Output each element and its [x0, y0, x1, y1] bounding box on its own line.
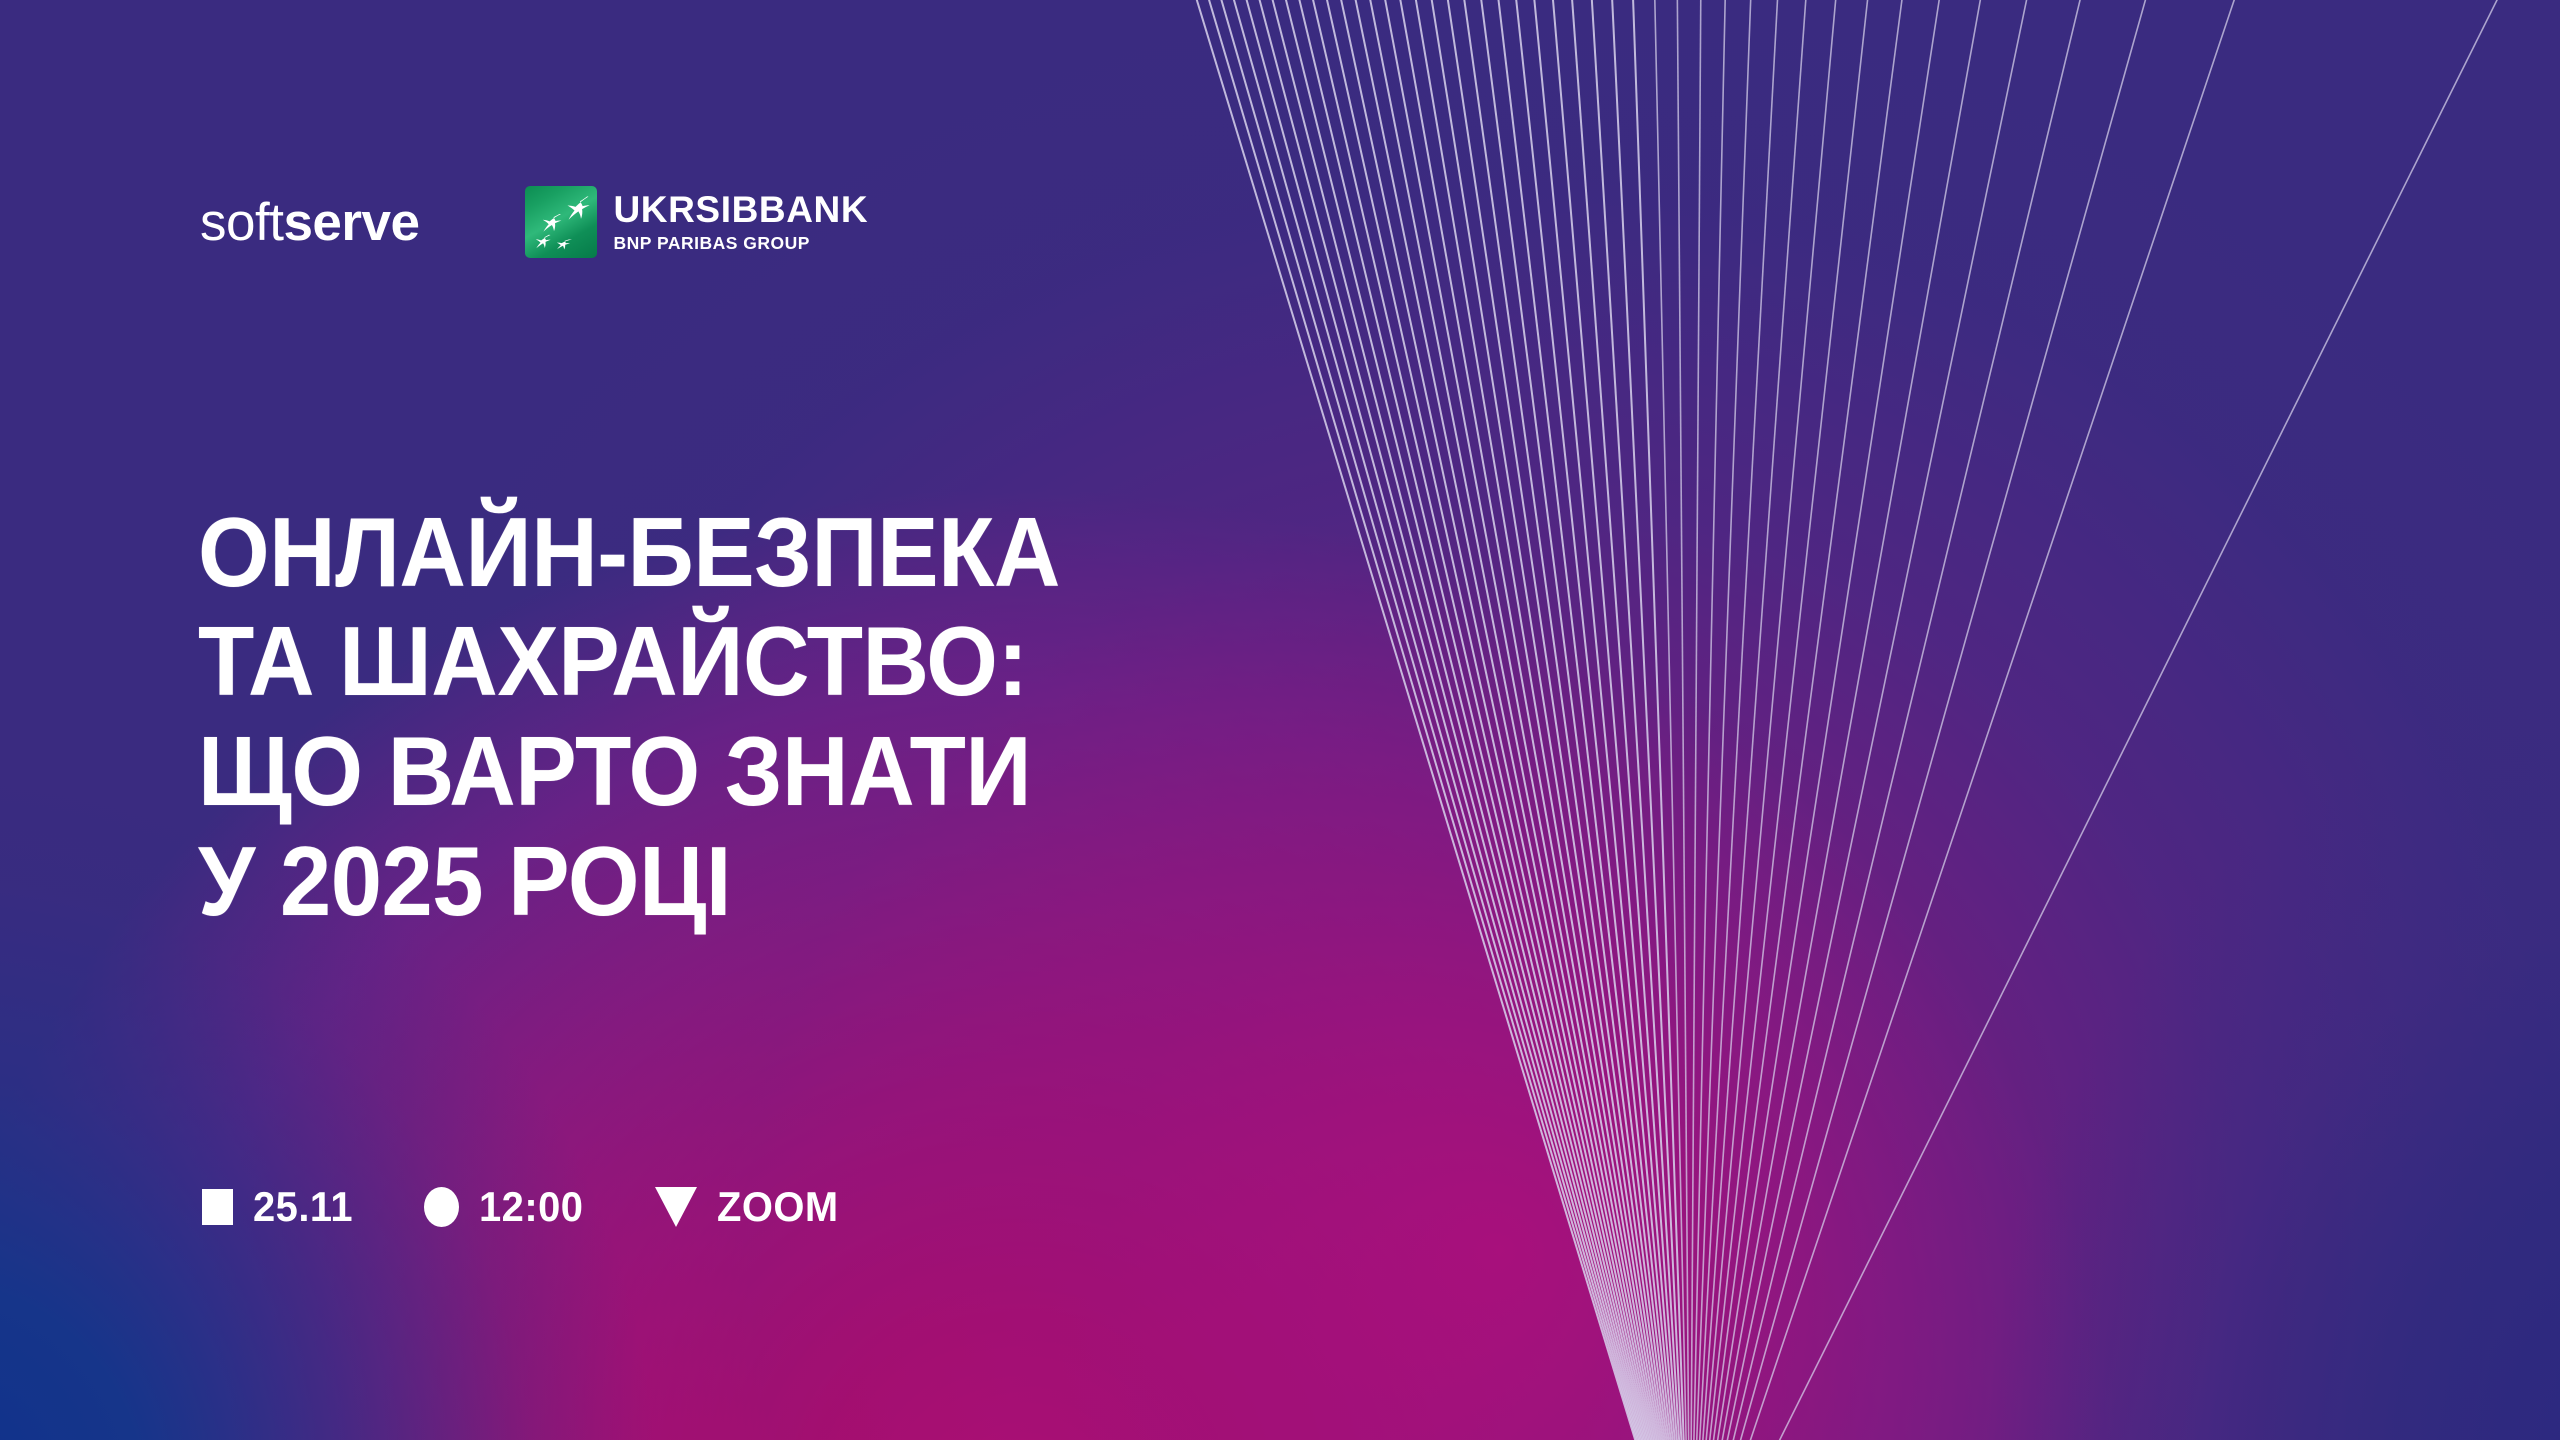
logo-row: softserve UKRSIB — [200, 186, 868, 258]
event-title-line-4: У 2025 РОЦІ — [198, 827, 1060, 937]
event-banner: softserve UKRSIB — [0, 0, 2560, 1440]
bnp-paribas-stars-icon — [525, 186, 597, 258]
ukrsibbank-name: UKRSIBBANK — [613, 191, 868, 228]
event-title-line-1: ОНЛАЙН-БЕЗПЕКА — [198, 498, 1060, 608]
square-icon — [202, 1189, 233, 1225]
ukrsibbank-subtitle: BNP PARIBAS GROUP — [613, 235, 868, 253]
event-time-label: 12:00 — [479, 1186, 583, 1228]
event-date-label: 25.11 — [253, 1186, 353, 1228]
event-meta-bar: 25.11 12:00 ZOOM — [202, 1186, 845, 1228]
event-title: ОНЛАЙН-БЕЗПЕКА ТА ШАХРАЙСТВО: ЩО ВАРТО З… — [198, 498, 1060, 937]
circle-icon — [424, 1187, 459, 1227]
ukrsibbank-logo: UKRSIBBANK BNP PARIBAS GROUP — [525, 186, 868, 258]
event-title-line-3: ЩО ВАРТО ЗНАТИ — [198, 717, 1060, 827]
event-time: 12:00 — [424, 1186, 589, 1228]
softserve-logo: softserve — [200, 196, 419, 249]
triangle-down-icon — [655, 1187, 697, 1227]
event-title-line-2: ТА ШАХРАЙСТВО: — [198, 607, 1060, 717]
event-date: 25.11 — [202, 1186, 358, 1228]
ukrsibbank-wordmark: UKRSIBBANK BNP PARIBAS GROUP — [613, 191, 868, 253]
softserve-logo-bold-part: serve — [283, 193, 419, 252]
softserve-logo-light-part: soft — [200, 193, 283, 252]
event-platform: ZOOM — [655, 1186, 845, 1228]
event-platform-label: ZOOM — [717, 1186, 839, 1228]
